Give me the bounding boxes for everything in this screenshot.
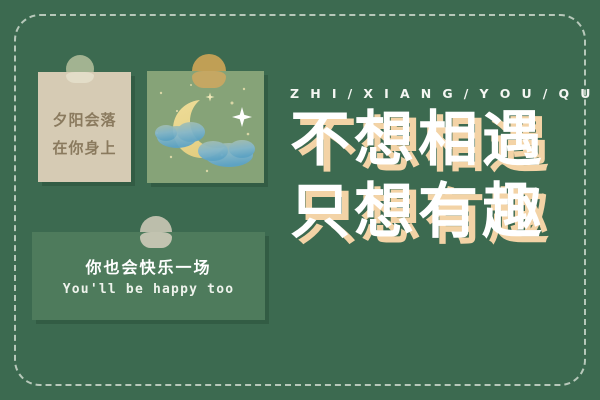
sunset-card-line-1: 夕阳会落 [38, 106, 131, 134]
poster-canvas: 夕阳会落 在你身上 [0, 0, 600, 400]
happy-card-chinese-text: 你也会快乐一场 [32, 254, 265, 278]
sunset-card-circle-overlay [66, 72, 94, 83]
sunset-card-text: 夕阳会落 在你身上 [38, 106, 131, 162]
headline-line-2: 只想有趣 只想有趣 [290, 179, 560, 245]
headline-line-1: 不想相遇 不想相遇 [290, 107, 560, 173]
happy-card-english-text: You'll be happy too [32, 282, 265, 297]
moon-card-sun-overlay [192, 71, 226, 88]
sunset-card: 夕阳会落 在你身上 [38, 72, 131, 182]
happy-card-circle-overlay [140, 232, 172, 248]
pinyin-subtitle: Z H I / X I A N G / Y O U / Q U [290, 86, 560, 101]
headline-line-2-fill: 只想有趣 [290, 179, 546, 245]
headline-line-1-fill: 不想相遇 [290, 107, 546, 173]
headline-block: Z H I / X I A N G / Y O U / Q U 不想相遇 不想相… [290, 86, 560, 245]
sunset-card-line-2: 在你身上 [38, 134, 131, 162]
